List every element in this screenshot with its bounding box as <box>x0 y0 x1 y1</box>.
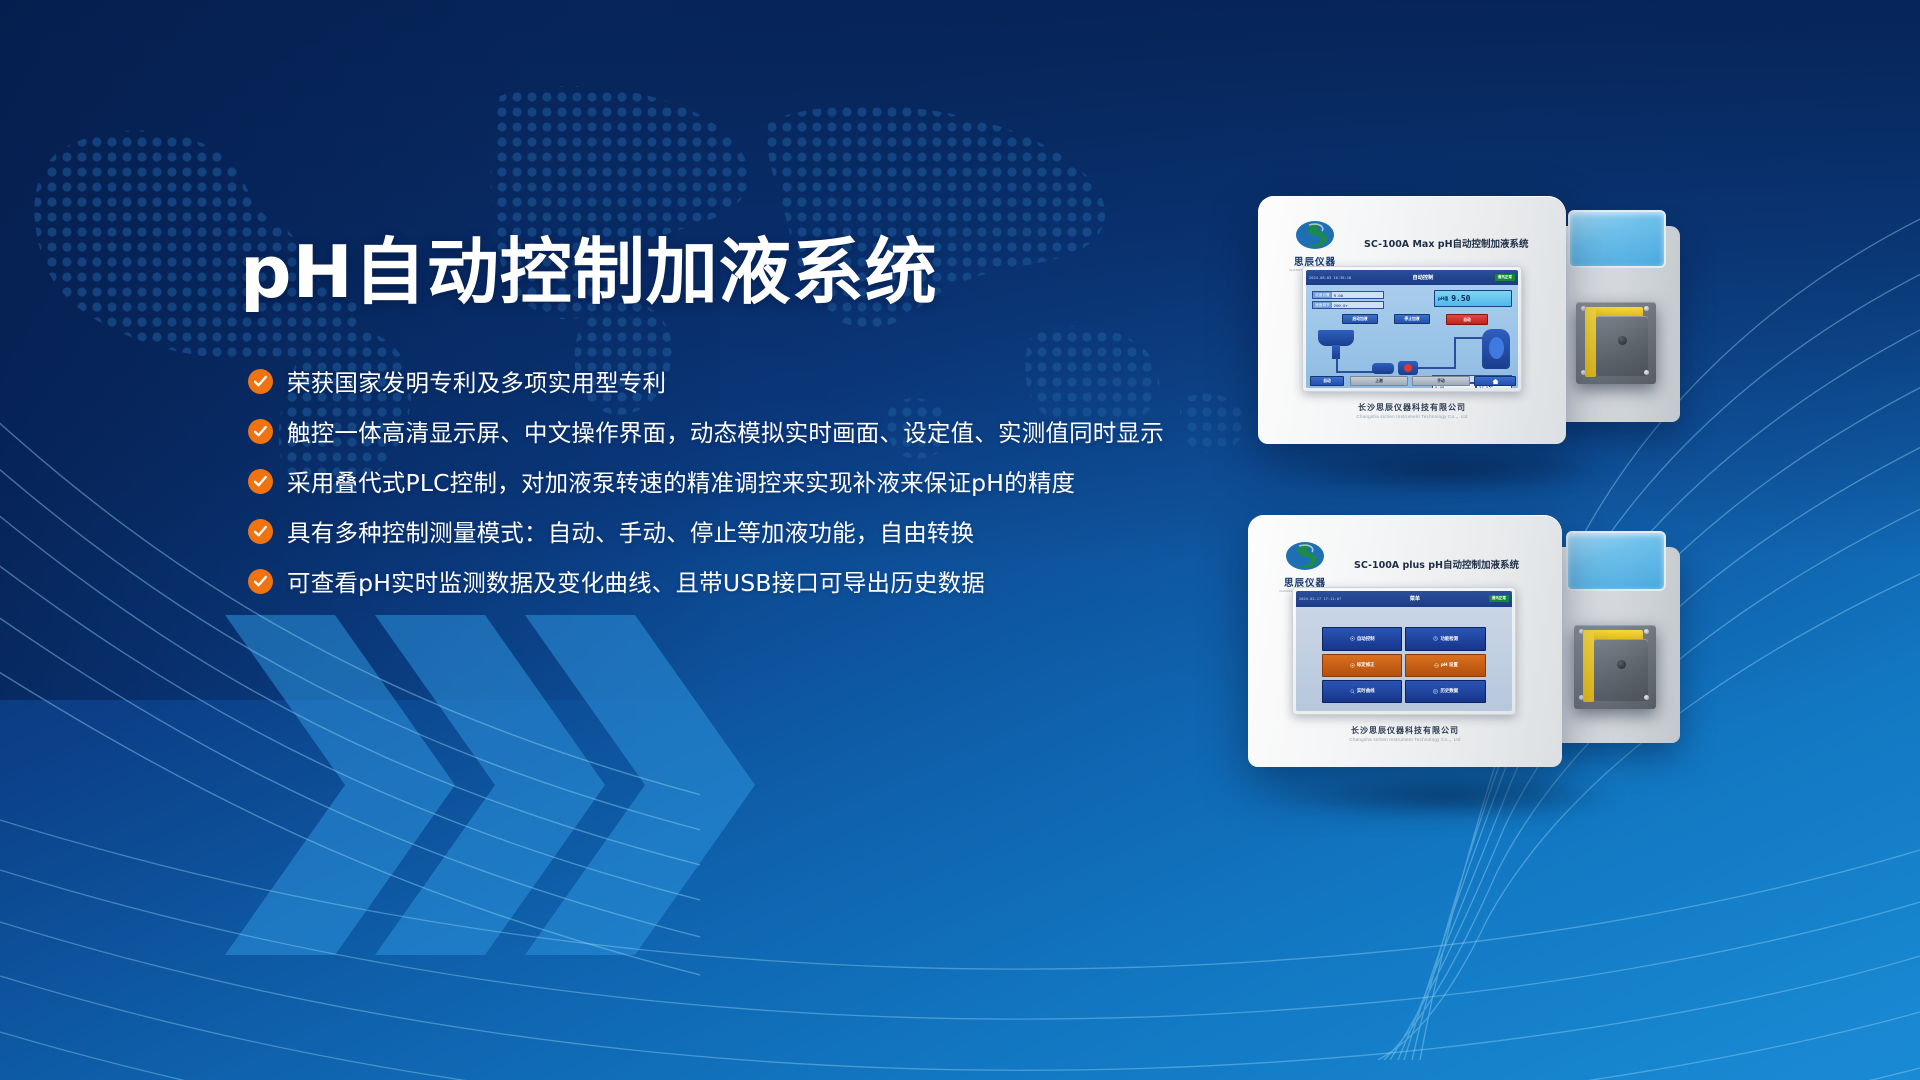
manufacturer-name-cn: 长沙思辰仪器科技有限公司 <box>1258 402 1566 413</box>
menu-item-label: 实时曲线 <box>1357 688 1375 694</box>
hmi-button-auto-mode[interactable]: 自动 <box>1446 314 1488 325</box>
status-badge: 通讯正常 <box>1489 595 1509 602</box>
menu-item-history-data[interactable]: 历史数据 <box>1405 680 1486 703</box>
hmi-graphic-pipe <box>1454 337 1456 369</box>
hmi-graphic-pipe <box>1336 371 1376 373</box>
pump-screw <box>1581 370 1586 375</box>
pump-yellow-trim-left <box>1585 307 1596 377</box>
brand-logo: 思辰仪器 CHANGSHA SICHEN INSTRUMENT <box>1276 218 1354 272</box>
peristaltic-pump-head <box>1576 302 1656 384</box>
gear-icon <box>1350 636 1355 641</box>
menu-item-auto-control[interactable]: 自动控制 <box>1322 627 1403 650</box>
menu-item-label: pH 设置 <box>1441 662 1458 668</box>
hmi-graphic-pump <box>1372 363 1394 374</box>
list-item: 具有多种控制测量模式：自动、手动、停止等加液功能，自由转换 <box>248 515 1164 547</box>
device-shadow <box>1266 773 1626 821</box>
menu-item-label: 自动控制 <box>1357 636 1375 642</box>
banner-content: pH自动控制加液系统 荣获国家发明专利及多项实用型专利 触控一体高清显示屏、中文… <box>0 0 1300 1080</box>
list-item: 荣获国家发明专利及多项实用型专利 <box>248 365 1164 397</box>
manufacturer-name-en: Changsha sichen Instrument Technology Co… <box>1248 737 1562 743</box>
device-front-panel: 思辰仪器 CHANGSHA SICHEN INSTRUMENT SC-100A … <box>1258 196 1566 444</box>
hmi-button-start-dosing[interactable]: 启动加液 <box>1342 314 1378 324</box>
hmi-titlebar: 2024-08-03 16:36:18 自动控制 通讯正常 <box>1306 270 1518 285</box>
hmi-screen-menu[interactable]: 2024-02-17 17:11:07 菜单 通讯正常 自动控制 <box>1296 591 1512 711</box>
sichen-logo-icon <box>1295 218 1335 252</box>
hmi-tab-auto[interactable]: 自动 <box>1310 376 1344 386</box>
feature-list: 荣获国家发明专利及多项实用型专利 触控一体高清显示屏、中文操作界面，动态模拟实时… <box>248 365 1164 615</box>
hmi-graphic-pipe <box>1336 358 1338 372</box>
sliders-icon <box>1434 663 1439 668</box>
check-circle-icon <box>248 569 273 594</box>
device-side-window <box>1568 210 1666 268</box>
hmi-menu-grid: 自动控制 功能检测 <box>1322 627 1486 702</box>
product-device-sc100a-max: 思辰仪器 CHANGSHA SICHEN INSTRUMENT SC-100A … <box>1258 196 1688 486</box>
product-device-sc100a-plus: 思辰仪器 CHANGSHA SICHEN INSTRUMENT SC-100A … <box>1248 515 1688 805</box>
menu-item-label: 历史数据 <box>1440 688 1458 694</box>
pump-screw <box>1644 695 1649 700</box>
hmi-tab-upper-measure[interactable]: 上测 <box>1350 376 1408 386</box>
hmi-tab-manual[interactable]: 手动 <box>1412 376 1470 386</box>
menu-item-realtime-curve[interactable]: 实时曲线 <box>1322 680 1403 703</box>
manufacturer-name-cn: 长沙思辰仪器科技有限公司 <box>1248 725 1562 736</box>
device-side-window <box>1566 531 1666 591</box>
hmi-tab-home[interactable] <box>1474 376 1516 386</box>
hmi-button-stop-dosing[interactable]: 停止加液 <box>1394 314 1430 324</box>
ph-value: 9.50 <box>1451 294 1470 303</box>
sichen-logo-icon <box>1285 539 1325 573</box>
target-icon <box>1350 663 1355 668</box>
hmi-screen-title: 自动控制 <box>1413 274 1434 281</box>
brand-logo: 思辰仪器 CHANGSHA SICHEN INSTRUMENT <box>1266 539 1344 593</box>
menu-item-ph-settings[interactable]: pH 设置 <box>1405 654 1486 677</box>
database-icon <box>1433 689 1438 694</box>
ph-value-readout: pH值 9.50 <box>1434 290 1512 307</box>
hmi-timestamp: 2024-02-17 17:11:07 <box>1299 597 1341 601</box>
check-icon <box>1433 636 1438 641</box>
chart-icon <box>1350 689 1355 694</box>
hmi-display-bezel: 2024-02-17 17:11:07 菜单 通讯正常 自动控制 <box>1292 587 1516 715</box>
hmi-process-area: 浓度设置 9.00 速度调节 200.0r pH值 9.50 启动加液 停止加 <box>1306 285 1518 388</box>
feature-text: 荣获国家发明专利及多项实用型专利 <box>287 364 666 398</box>
hmi-graphic-hopper <box>1318 330 1354 346</box>
hmi-graphic-pipe <box>1418 367 1456 369</box>
pump-screw <box>1579 695 1584 700</box>
feature-text: 可查看pH实时监测数据及变化曲线、且带USB接口可导出历史数据 <box>287 564 985 598</box>
peristaltic-pump-head <box>1574 625 1656 709</box>
hmi-timestamp: 2024-08-03 16:36:18 <box>1309 276 1351 280</box>
menu-item-label: 标定修正 <box>1357 662 1375 668</box>
field-label: 速度调节 <box>1313 302 1332 308</box>
product-banner: pH自动控制加液系统 荣获国家发明专利及多项实用型专利 触控一体高清显示屏、中文… <box>0 0 1920 1080</box>
menu-item-calibration[interactable]: 标定修正 <box>1322 654 1403 677</box>
pump-screw <box>1644 629 1649 634</box>
list-item: 触控一体高清显示屏、中文操作界面，动态模拟实时画面、设定值、实测值同时显示 <box>248 415 1164 447</box>
check-circle-icon <box>248 369 273 394</box>
hmi-screen-auto-control[interactable]: 2024-08-03 16:36:18 自动控制 通讯正常 浓度设置 9.00 … <box>1306 270 1518 388</box>
hmi-graphic-hopper-neck <box>1332 345 1340 359</box>
list-item: 可查看pH实时监测数据及变化曲线、且带USB接口可导出历史数据 <box>248 565 1164 597</box>
check-circle-icon <box>248 419 273 444</box>
device-model-label: SC-100A plus pH自动控制加液系统 <box>1354 557 1519 571</box>
device-front-panel: 思辰仪器 CHANGSHA SICHEN INSTRUMENT SC-100A … <box>1248 515 1562 767</box>
hmi-display-bezel: 2024-08-03 16:36:18 自动控制 通讯正常 浓度设置 9.00 … <box>1302 266 1522 392</box>
status-badge: 通讯正常 <box>1495 274 1515 281</box>
page-title: pH自动控制加液系统 <box>240 236 938 308</box>
feature-text: 采用叠代式PLC控制，对加液泵转速的精准调控来实现补液来保证pH的精度 <box>287 464 1075 498</box>
pump-screw <box>1581 306 1586 311</box>
pump-cover <box>1596 316 1648 376</box>
pump-screw <box>1644 306 1649 311</box>
check-circle-icon <box>248 519 273 544</box>
feature-text: 具有多种控制测量模式：自动、手动、停止等加液功能，自由转换 <box>287 514 974 548</box>
field-value: 200.0r <box>1332 302 1350 308</box>
feature-text: 触控一体高清显示屏、中文操作界面，动态模拟实时画面、设定值、实测值同时显示 <box>287 414 1164 448</box>
pump-knob <box>1617 660 1626 669</box>
hmi-titlebar: 2024-02-17 17:11:07 菜单 通讯正常 <box>1296 591 1512 607</box>
hmi-field-speed-adjust[interactable]: 速度调节 200.0r <box>1312 301 1384 309</box>
hmi-menu-area: 自动控制 功能检测 <box>1296 607 1512 711</box>
pump-cover <box>1594 639 1648 701</box>
field-value: 9.00 <box>1332 292 1345 298</box>
list-item: 采用叠代式PLC控制，对加液泵转速的精准调控来实现补液来保证pH的精度 <box>248 465 1164 497</box>
pump-yellow-trim-left <box>1583 630 1594 702</box>
hmi-screen-title: 菜单 <box>1410 595 1420 602</box>
device-shadow <box>1278 448 1618 494</box>
check-circle-icon <box>248 469 273 494</box>
device-model-label: SC-100A Max pH自动控制加液系统 <box>1364 236 1529 250</box>
field-label: 浓度设置 <box>1313 292 1332 298</box>
manufacturer-name-en: Changsha sichen Instrument Technology Co… <box>1258 414 1566 420</box>
hmi-field-concentration-set[interactable]: 浓度设置 9.00 <box>1312 291 1384 299</box>
ph-label: pH值 <box>1438 296 1448 302</box>
menu-item-label: 功能检测 <box>1440 636 1458 642</box>
pump-screw <box>1579 629 1584 634</box>
pump-knob <box>1618 336 1627 345</box>
menu-item-function-test[interactable]: 功能检测 <box>1405 627 1486 650</box>
pump-screw <box>1644 370 1649 375</box>
home-icon <box>1492 378 1499 385</box>
